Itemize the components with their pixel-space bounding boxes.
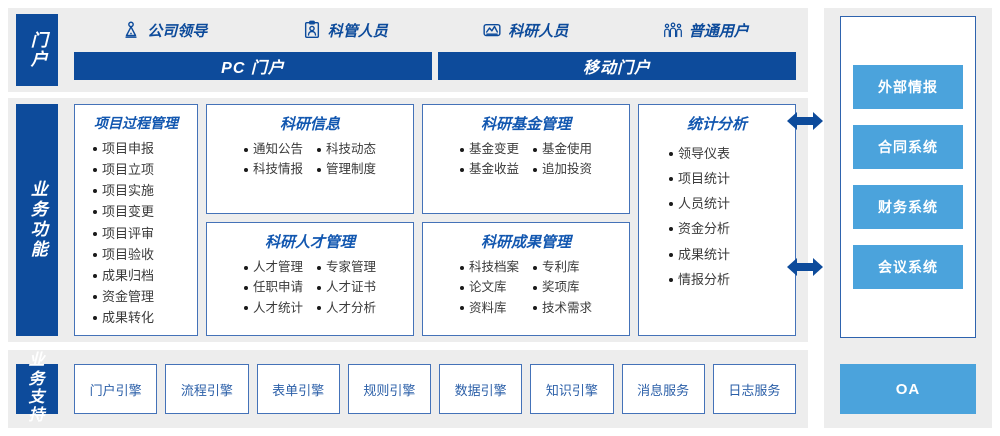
list-item[interactable]: 资金分析 — [669, 219, 730, 239]
function-column-statistics: 统计分析 领导仪表 项目统计 人员统计 资金分析 成果统计 情报分析 — [638, 104, 796, 336]
role-research-admin-label: 科管人员 — [328, 20, 388, 41]
general-user-icon — [663, 20, 683, 40]
list-item[interactable]: 专家管理 — [317, 258, 376, 277]
list-item[interactable]: 资金管理 — [93, 287, 154, 307]
list-item[interactable]: 项目验收 — [93, 245, 154, 265]
portal-role-row: 公司领导 科管人员 科研人员 — [74, 14, 796, 46]
card-item-list: 领导仪表 项目统计 人员统计 资金分析 成果统计 情报分析 — [643, 144, 791, 290]
business-function-grid: 项目过程管理 项目申报 项目立项 项目实施 项目变更 项目评审 项目验收 成果归… — [74, 104, 796, 336]
card-title: 科研成果管理 — [427, 231, 625, 252]
card-item-grid: 基金变更 基金使用 基金收益 追加投资 — [427, 140, 625, 180]
card-project-process-management[interactable]: 项目过程管理 项目申报 项目立项 项目实施 项目变更 项目评审 项目验收 成果归… — [74, 104, 198, 336]
card-item-grid: 人才管理 专家管理 任职申请 人才证书 人才统计 人才分析 — [211, 258, 409, 318]
function-column-info-talent: 科研信息 通知公告 科技动态 科技情报 管理制度 科研人才管理 人才管理 专家管… — [206, 104, 414, 336]
list-item[interactable]: 基金使用 — [533, 140, 592, 159]
external-system-finance[interactable]: 财务系统 — [853, 185, 963, 229]
double-arrow-horizontal-icon — [786, 108, 824, 134]
business-function-layer-tab: 业务功能 — [16, 104, 58, 336]
portal-layer-tab: 门户 — [16, 14, 58, 86]
portal-entry-buttons: PC 门户 移动门户 — [74, 52, 796, 80]
list-item[interactable]: 项目变更 — [93, 202, 154, 222]
list-item[interactable]: 项目实施 — [93, 181, 154, 201]
research-admin-icon — [302, 20, 322, 40]
card-item-grid: 通知公告 科技动态 科技情报 管理制度 — [211, 140, 409, 180]
engine-portal[interactable]: 门户引擎 — [74, 364, 157, 414]
researcher-icon — [482, 20, 502, 40]
engine-process[interactable]: 流程引擎 — [165, 364, 248, 414]
card-research-fund-management[interactable]: 科研基金管理 基金变更 基金使用 基金收益 追加投资 — [422, 104, 630, 214]
list-item[interactable]: 人才证书 — [317, 278, 376, 297]
list-item[interactable]: 资料库 — [460, 299, 519, 318]
function-column-process: 项目过程管理 项目申报 项目立项 项目实施 项目变更 项目评审 项目验收 成果归… — [74, 104, 198, 336]
double-arrow-horizontal-icon — [786, 254, 824, 280]
business-support-engine-row: 门户引擎 流程引擎 表单引擎 规则引擎 数据引擎 知识引擎 消息服务 日志服务 — [74, 364, 796, 414]
list-item[interactable]: 成果转化 — [93, 308, 154, 328]
list-item[interactable]: 专利库 — [533, 258, 592, 277]
connector-arrow-bottom — [786, 254, 824, 280]
list-item[interactable]: 成果归档 — [93, 266, 154, 286]
card-item-list: 项目申报 项目立项 项目实施 项目变更 项目评审 项目验收 成果归档 资金管理 … — [79, 139, 193, 328]
list-item[interactable]: 项目统计 — [669, 169, 730, 189]
portal-layer-label: 门户 — [27, 31, 47, 69]
card-statistical-analysis[interactable]: 统计分析 领导仪表 项目统计 人员统计 资金分析 成果统计 情报分析 — [638, 104, 796, 336]
list-item[interactable]: 科技档案 — [460, 258, 519, 277]
list-item[interactable]: 人才管理 — [244, 258, 303, 277]
card-title: 项目过程管理 — [79, 113, 193, 133]
service-log[interactable]: 日志服务 — [713, 364, 796, 414]
business-support-layer-label: 业务支持 — [24, 352, 50, 426]
card-title: 科研信息 — [211, 113, 409, 134]
role-company-leader[interactable]: 公司领导 — [74, 20, 255, 41]
role-general-user[interactable]: 普通用户 — [616, 20, 797, 41]
role-researcher-label: 科研人员 — [508, 20, 568, 41]
list-item[interactable]: 成果统计 — [669, 245, 730, 265]
pc-portal-button[interactable]: PC 门户 — [74, 52, 432, 80]
business-function-layer-label: 业务功能 — [27, 180, 47, 260]
card-item-grid: 科技档案 专利库 论文库 奖项库 资料库 技术需求 — [427, 258, 625, 318]
role-company-leader-label: 公司领导 — [147, 20, 207, 41]
external-system-contract[interactable]: 合同系统 — [853, 125, 963, 169]
role-general-user-label: 普通用户 — [689, 20, 749, 41]
engine-rule[interactable]: 规则引擎 — [348, 364, 431, 414]
external-system-oa[interactable]: OA — [840, 364, 976, 414]
engine-form[interactable]: 表单引擎 — [257, 364, 340, 414]
role-researcher[interactable]: 科研人员 — [435, 20, 616, 41]
company-leader-icon — [121, 20, 141, 40]
external-systems-box: 外部情报 合同系统 财务系统 会议系统 — [840, 16, 976, 338]
architecture-diagram: 门户 公司领导 科管人员 — [0, 0, 1000, 436]
list-item[interactable]: 领导仪表 — [669, 144, 730, 164]
list-item[interactable]: 任职申请 — [244, 278, 303, 297]
engine-data[interactable]: 数据引擎 — [439, 364, 522, 414]
list-item[interactable]: 情报分析 — [669, 270, 730, 290]
list-item[interactable]: 基金收益 — [460, 160, 519, 179]
list-item[interactable]: 论文库 — [460, 278, 519, 297]
list-item[interactable]: 通知公告 — [244, 140, 303, 159]
list-item[interactable]: 奖项库 — [533, 278, 592, 297]
card-research-talent-management[interactable]: 科研人才管理 人才管理 专家管理 任职申请 人才证书 人才统计 人才分析 — [206, 222, 414, 336]
connector-arrow-top — [786, 108, 824, 134]
card-research-achievement-management[interactable]: 科研成果管理 科技档案 专利库 论文库 奖项库 资料库 技术需求 — [422, 222, 630, 336]
list-item[interactable]: 基金变更 — [460, 140, 519, 159]
list-item[interactable]: 人才分析 — [317, 299, 376, 318]
list-item[interactable]: 管理制度 — [317, 160, 376, 179]
business-support-layer-tab: 业务支持 — [16, 364, 58, 414]
external-system-meeting[interactable]: 会议系统 — [853, 245, 963, 289]
list-item[interactable]: 项目立项 — [93, 160, 154, 180]
list-item[interactable]: 人才统计 — [244, 299, 303, 318]
engine-knowledge[interactable]: 知识引擎 — [530, 364, 613, 414]
list-item[interactable]: 人员统计 — [669, 194, 730, 214]
card-title: 科研基金管理 — [427, 113, 625, 134]
card-research-information[interactable]: 科研信息 通知公告 科技动态 科技情报 管理制度 — [206, 104, 414, 214]
mobile-portal-button[interactable]: 移动门户 — [438, 52, 796, 80]
service-message[interactable]: 消息服务 — [622, 364, 705, 414]
list-item[interactable]: 技术需求 — [533, 299, 592, 318]
function-column-fund-achievement: 科研基金管理 基金变更 基金使用 基金收益 追加投资 科研成果管理 科技档案 专… — [422, 104, 630, 336]
list-item[interactable]: 追加投资 — [533, 160, 592, 179]
list-item[interactable]: 项目评审 — [93, 224, 154, 244]
role-research-admin[interactable]: 科管人员 — [255, 20, 436, 41]
list-item[interactable]: 科技动态 — [317, 140, 376, 159]
card-title: 科研人才管理 — [211, 231, 409, 252]
list-item[interactable]: 项目申报 — [93, 139, 154, 159]
external-system-intelligence[interactable]: 外部情报 — [853, 65, 963, 109]
list-item[interactable]: 科技情报 — [244, 160, 303, 179]
card-title: 统计分析 — [643, 113, 791, 134]
